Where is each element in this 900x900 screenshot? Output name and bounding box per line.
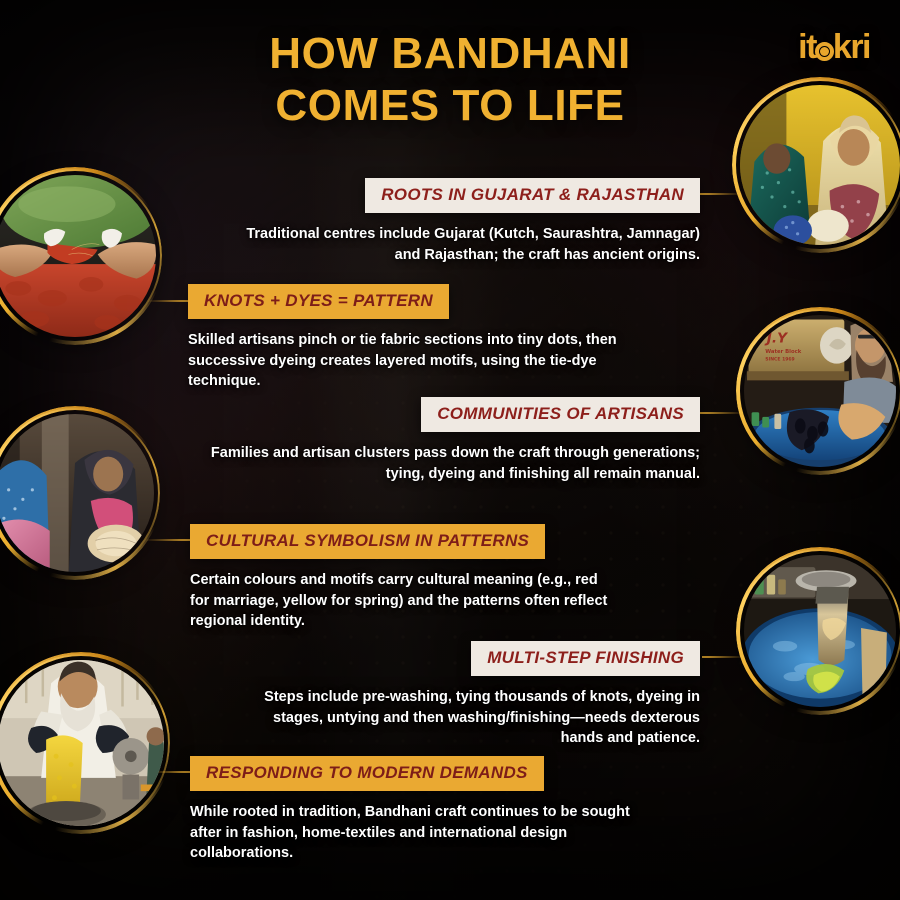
photo-art-yellow-cloth (0, 660, 164, 826)
brand-logo-text-1: it (798, 28, 816, 66)
content-block-1: ROOTS IN GUJARAT & RAJASTHAN Traditional… (230, 178, 700, 265)
block-body-1: Traditional centres include Gujarat (Kut… (230, 224, 700, 265)
block-heading-6: RESPONDING TO MODERN DEMANDS (190, 756, 544, 791)
block-body-4: Certain colours and motifs carry cultura… (190, 570, 620, 632)
title-line-1: HOW BANDHANI (0, 28, 900, 80)
block-heading-1: ROOTS IN GUJARAT & RAJASTHAN (365, 178, 700, 213)
photo-medallion-indigo-dye-tub (736, 547, 900, 715)
photo-art-indigo-tub (744, 555, 896, 707)
logo-circle-icon (815, 42, 834, 61)
connector-line-3 (700, 412, 744, 414)
block-body-3: Families and artisan clusters pass down … (200, 443, 700, 484)
photo-art-dyer-blue-vat: J.Y Water Block SINCE 1969 (744, 315, 896, 467)
block-heading-5: MULTI-STEP FINISHING (471, 641, 700, 676)
block-body-2: Skilled artisans pinch or tie fabric sec… (188, 330, 618, 392)
brand-logo[interactable]: itkri (798, 30, 870, 64)
photo-art-hands-tying (0, 175, 156, 337)
page-title: HOW BANDHANI COMES TO LIFE (0, 28, 900, 132)
block-body-5: Steps include pre-washing, tying thousan… (260, 687, 700, 749)
photo-medallion-dyer-at-blue-vat: J.Y Water Block SINCE 1969 (736, 307, 900, 475)
photo-dyer-lifting-yellow-cloth (0, 660, 164, 826)
photo-art-artisan-women (0, 414, 154, 572)
content-block-6: RESPONDING TO MODERN DEMANDS While roote… (190, 756, 650, 864)
svg-text:SINCE 1969: SINCE 1969 (765, 357, 794, 363)
svg-text:Water Block: Water Block (765, 349, 802, 355)
connector-line-2 (148, 300, 188, 302)
connector-line-4 (146, 539, 190, 541)
photo-indigo-dye-tub (744, 555, 896, 707)
block-body-6: While rooted in tradition, Bandhani craf… (190, 802, 650, 864)
content-block-2: KNOTS + DYES = PATTERN Skilled artisans … (188, 284, 618, 392)
brand-logo-text-2: kri (833, 28, 870, 66)
title-line-2: COMES TO LIFE (0, 80, 900, 132)
block-heading-4: CULTURAL SYMBOLISM IN PATTERNS (190, 524, 545, 559)
photo-dyer-at-blue-vat: J.Y Water Block SINCE 1969 (744, 315, 896, 467)
connector-line-5 (702, 656, 744, 658)
content-block-3: COMMUNITIES OF ARTISANS Families and art… (200, 397, 700, 484)
svg-text:J.Y: J.Y (764, 330, 789, 346)
infographic-poster: HOW BANDHANI COMES TO LIFE itkri (0, 0, 900, 900)
content-block-5: MULTI-STEP FINISHING Steps include pre-w… (260, 641, 700, 749)
content-block-4: CULTURAL SYMBOLISM IN PATTERNS Certain c… (190, 524, 620, 632)
photo-hands-tying-red-fabric (0, 175, 156, 337)
photo-artisan-women-seated (0, 414, 154, 572)
block-heading-2: KNOTS + DYES = PATTERN (188, 284, 449, 319)
block-heading-3: COMMUNITIES OF ARTISANS (421, 397, 700, 432)
